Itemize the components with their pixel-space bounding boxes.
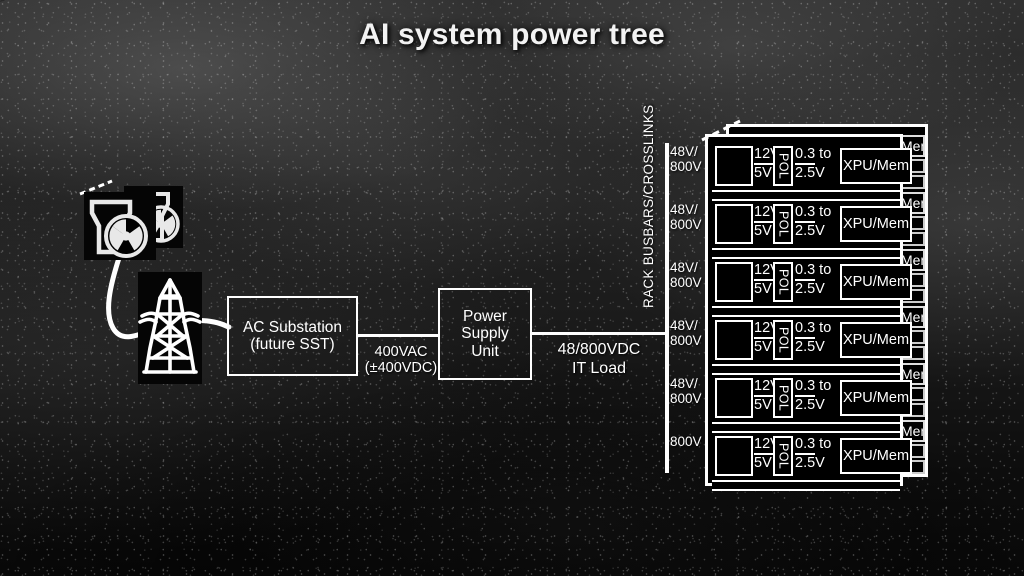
input-voltage-line1: 48V/ [670,260,710,275]
rack-row-input-stage[interactable] [715,378,753,418]
rack-rail [712,480,900,491]
rack-row-pol-rails: 0.3 to2.5V [795,321,815,356]
input-voltage-line1: 48V/ [670,202,710,217]
rack-row[interactable]: 12V5VPOL0.3 to2.5VXPU/Mem [712,259,900,305]
rack-row-load[interactable]: XPU/Mem [840,264,912,300]
rack-row-pol-converter[interactable]: POL [773,146,793,186]
pol-rail-out: 2.5V [795,456,815,471]
converter-rail-out: 5V [754,340,774,355]
converter-rail-in: 12V [754,321,774,339]
input-voltage-line2: 800V [670,159,710,174]
pol-rail-out: 2.5V [795,166,815,181]
rack-rail [712,248,900,259]
power-tree-diagram: AI system power tree [0,0,1024,576]
rack-row-converter-rails: 12V5V [754,379,774,414]
converter-rail-out: 5V [754,398,774,413]
rack-busbar-line [665,143,669,473]
rack-row-input-voltage: 48V/800V [670,144,710,174]
rack-row-pol-rails: 0.3 to2.5V [795,205,815,240]
pol-rail-in: 0.3 to [795,205,815,223]
rack-row[interactable]: 12V5VPOL0.3 to2.5VXPU/Mem [712,201,900,247]
rack-row-load[interactable]: XPU/Mem [840,148,912,184]
rack-row-pol-rails: 0.3 to2.5V [795,379,815,414]
pol-rail-in: 0.3 to [795,147,815,165]
nuclear-plant-icon [84,192,156,260]
pol-rail-in: 0.3 to [795,321,815,339]
converter-rail-out: 5V [754,224,774,239]
rack-row-input-stage[interactable] [715,436,753,476]
rack-row-input-voltage: 48V/800V [670,202,710,232]
power-supply-unit-block[interactable]: Power Supply Unit [438,288,532,380]
converter-rail-in: 12V [754,379,774,397]
rack-row-input-stage[interactable] [715,204,753,244]
converter-rail-out: 5V [754,456,774,471]
link-400vac-line1: 400VAC [360,344,442,360]
rack-row-input-voltage: 48V/800V [670,376,710,406]
psu-label-line2: Supply [461,325,508,342]
link-400vac-line2: (±400VDC) [360,360,442,376]
input-voltage-line1: 48V/ [670,144,710,159]
converter-rail-in: 12V [754,205,774,223]
rack-row-input-voltage: 800V [670,434,710,449]
input-voltage-line2: 800V [670,434,710,449]
rack-row-load[interactable]: XPU/Mem [840,438,912,474]
rack-row-converter-rails: 12V5V [754,205,774,240]
rack-row-pol-converter[interactable]: POL [773,204,793,244]
rack-row[interactable]: 12V5VPOL0.3 to2.5VXPU/Mem [712,375,900,421]
rack-row-pol-rails: 0.3 to2.5V [795,437,815,472]
rack-row[interactable]: 12V5VPOL0.3 to2.5VXPU/Mem [712,433,900,479]
link-label-400vac: 400VAC (±400VDC) [360,344,442,376]
rack-row-input-voltage: 48V/800V [670,260,710,290]
rack-row-converter-rails: 12V5V [754,437,774,472]
converter-rail-in: 12V [754,147,774,165]
pol-rail-out: 2.5V [795,340,815,355]
rack-row-input-stage[interactable] [715,262,753,302]
ac-substation-block[interactable]: AC Substation (future SST) [227,296,358,376]
wire-psu-to-busbar [531,332,667,335]
rack-row-pol-rails: 0.3 to2.5V [795,147,815,182]
input-voltage-line2: 800V [670,275,710,290]
rack-row-input-voltage: 48V/800V [670,318,710,348]
pol-rail-out: 2.5V [795,398,815,413]
rack-row[interactable]: 12V5VPOL0.3 to2.5VXPU/Mem [712,143,900,189]
pol-rail-in: 0.3 to [795,379,815,397]
pol-rail-in: 0.3 to [795,263,815,281]
pol-rail-out: 2.5V [795,224,815,239]
converter-rail-out: 5V [754,282,774,297]
psu-label-line3: Unit [461,343,508,360]
substation-label-line1: AC Substation [243,319,342,336]
rack-row-load[interactable]: XPU/Mem [840,206,912,242]
converter-rail-in: 12V [754,437,774,455]
rack-row-converter-rails: 12V5V [754,263,774,298]
link-itload-line2: IT Load [533,359,665,378]
wire-substation-to-psu [357,334,439,337]
rack-row[interactable]: 12V5VPOL0.3 to2.5VXPU/Mem [712,317,900,363]
rack-row-converter-rails: 12V5V [754,321,774,356]
rack-row-pol-converter[interactable]: POL [773,320,793,360]
rack-rail [712,364,900,375]
rack-rail [712,422,900,433]
pol-rail-in: 0.3 to [795,437,815,455]
rack-row-load[interactable]: XPU/Mem [840,322,912,358]
rack-back-slot-label: Mem [901,423,925,439]
busbar-caption: RACK BUSBARS/CROSSLINKS [641,98,659,308]
substation-label-line2: (future SST) [243,336,342,353]
link-itload-line1: 48/800VDC [533,340,665,359]
rack-rail [712,306,900,317]
psu-label-line1: Power [461,308,508,325]
rack-row-converter-rails: 12V5V [754,147,774,182]
input-voltage-line1: 48V/ [670,376,710,391]
input-voltage-line2: 800V [670,217,710,232]
converter-rail-out: 5V [754,166,774,181]
rack-row-pol-rails: 0.3 to2.5V [795,263,815,298]
input-voltage-line1: 48V/ [670,318,710,333]
input-voltage-line2: 800V [670,333,710,348]
transmission-tower-icon [138,272,202,384]
converter-rail-in: 12V [754,263,774,281]
link-label-it-load: 48/800VDC IT Load [533,340,665,378]
rack-row-input-stage[interactable] [715,146,753,186]
rack-row-load[interactable]: XPU/Mem [840,380,912,416]
rack-row-input-stage[interactable] [715,320,753,360]
pol-rail-out: 2.5V [795,282,815,297]
rack-front-panel: 12V5VPOL0.3 to2.5VXPU/Mem12V5VPOL0.3 to2… [705,134,903,486]
rack-row-pol-converter[interactable]: POL [773,378,793,418]
rack-row-pol-converter[interactable]: POL [773,436,793,476]
rack-row-pol-converter[interactable]: POL [773,262,793,302]
rack-rail [712,190,900,201]
input-voltage-line2: 800V [670,391,710,406]
